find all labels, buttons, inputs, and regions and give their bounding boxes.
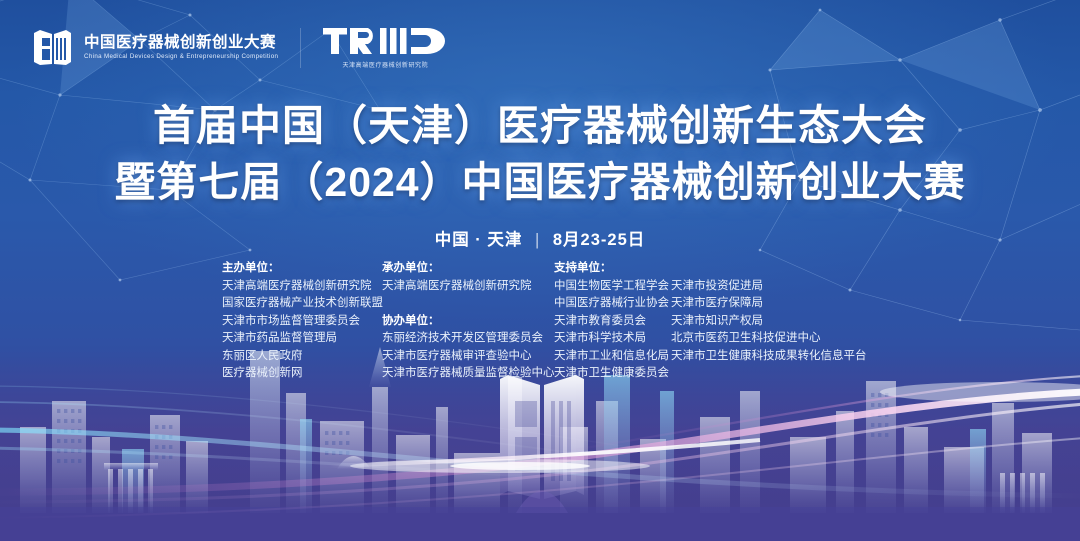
organizers-column-host: 主办单位： 天津高端医疗器械创新研究院 国家医疗器械产业技术创新联盟 天津市市场… xyxy=(222,260,382,383)
competition-logo: 中国医疗器械创新创业大赛 China Medical Devices Desig… xyxy=(30,28,278,68)
coorganizer-item: 天津市医疗器械质量监督检验中心 xyxy=(382,365,554,383)
supporter-item: 天津市卫生健康科技成果转化信息平台 xyxy=(671,348,867,366)
meta-separator: | xyxy=(535,231,540,249)
supporter-item: 北京市医药卫生科技促进中心 xyxy=(671,330,867,348)
open-book-mark-icon xyxy=(500,375,584,499)
title-line-2: 暨第七届（2024）中国医疗器械创新创业大赛 xyxy=(0,154,1080,210)
header-logos: 中国医疗器械创新创业大赛 China Medical Devices Desig… xyxy=(30,26,447,69)
organizers-column-supporter-a: 支持单位： 中国生物医学工程学会 中国医疗器械行业协会 天津市教育委员会 天津市… xyxy=(554,260,671,383)
host-item: 医疗器械创新网 xyxy=(222,365,382,383)
supporter-item: 天津市工业和信息化局 xyxy=(554,348,671,366)
host-item: 天津市药品监督管理局 xyxy=(222,330,382,348)
event-meta: 中国 · 天津 | 8月23-25日 xyxy=(0,226,1080,250)
column-spacer xyxy=(382,295,554,313)
organizers-column-undertaker: 承办单位： 天津高端医疗器械创新研究院 协办单位： 东丽经济技术开发区管理委员会… xyxy=(382,260,554,383)
host-item: 天津市市场监督管理委员会 xyxy=(222,313,382,331)
competition-logo-en: China Medical Devices Design & Entrepren… xyxy=(84,54,278,61)
supporter-item: 天津市医疗保障局 xyxy=(671,295,867,313)
coorganizer-item: 天津市医疗器械审评查验中心 xyxy=(382,348,554,366)
host-item: 国家医疗器械产业技术创新联盟 xyxy=(222,295,382,313)
event-location: 中国 · 天津 xyxy=(435,231,523,249)
supporter-item: 天津市卫生健康委员会 xyxy=(554,365,671,383)
supporter-item: 天津市投资促进局 xyxy=(671,278,867,296)
title-block: 首届中国（天津）医疗器械创新生态大会 暨第七届（2024）中国医疗器械创新创业大… xyxy=(0,98,1080,210)
open-book-mark-icon xyxy=(30,28,74,68)
triid-wordmark-icon xyxy=(323,26,447,56)
host-item: 东丽区人民政府 xyxy=(222,348,382,366)
host-heading: 主办单位： xyxy=(222,260,382,278)
logo-divider xyxy=(300,28,301,68)
event-date: 8月23-25日 xyxy=(553,231,645,249)
undertaker-item: 天津高端医疗器械创新研究院 xyxy=(382,278,554,296)
title-line-1: 首届中国（天津）医疗器械创新生态大会 xyxy=(0,98,1080,154)
institute-logo-sub: 天津高端医疗器械创新研究院 xyxy=(342,60,428,69)
conference-banner: 中国医疗器械创新创业大赛 China Medical Devices Desig… xyxy=(0,0,1080,541)
undertaker-heading: 承办单位： xyxy=(382,260,554,278)
supporter-item: 天津市科学技术局 xyxy=(554,330,671,348)
supporter-item: 天津市知识产权局 xyxy=(671,313,867,331)
coorganizer-heading: 协办单位： xyxy=(382,313,554,331)
column-spacer xyxy=(671,260,867,278)
supporter-item: 中国生物医学工程学会 xyxy=(554,278,671,296)
organizers-column-supporter-b: 天津市投资促进局 天津市医疗保障局 天津市知识产权局 北京市医药卫生科技促进中心… xyxy=(671,260,867,365)
supporter-item: 中国医疗器械行业协会 xyxy=(554,295,671,313)
host-item: 天津高端医疗器械创新研究院 xyxy=(222,278,382,296)
coorganizer-item: 东丽经济技术开发区管理委员会 xyxy=(382,330,554,348)
supporter-item: 天津市教育委员会 xyxy=(554,313,671,331)
organizers-block: 主办单位： 天津高端医疗器械创新研究院 国家医疗器械产业技术创新联盟 天津市市场… xyxy=(222,260,867,383)
supporter-heading: 支持单位： xyxy=(554,260,671,278)
institute-logo: 天津高端医疗器械创新研究院 xyxy=(323,26,447,69)
competition-logo-cn: 中国医疗器械创新创业大赛 xyxy=(84,35,278,51)
